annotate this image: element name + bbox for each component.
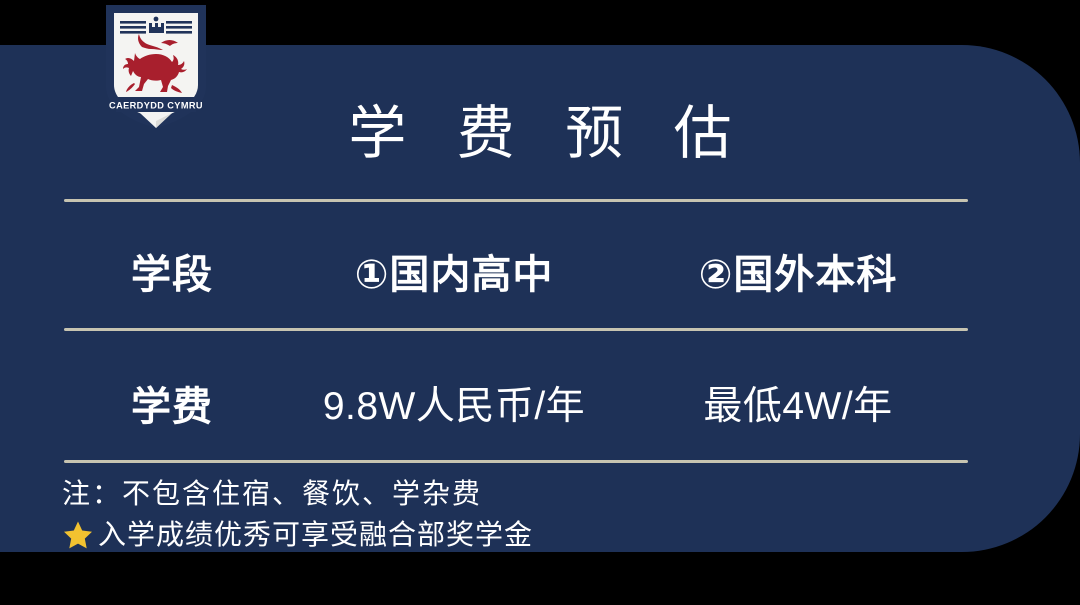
table-header-row: 学段 ①国内高中 ②国外本科 [64, 241, 968, 309]
note-scholarship-text: 入学成绩优秀可享受融合部奖学金 [98, 514, 533, 555]
column-header-overseas: ②国外本科 [699, 251, 898, 299]
table-header-cell-domestic: ①国内高中 [280, 241, 628, 309]
value-overseas-fee: 最低4W/年 [703, 383, 892, 431]
poster-canvas: 学 费 预 估 学段 ①国内高中 ②国外本科 学费 9.8W人民币/年 [0, 0, 1080, 605]
column-header-label: 学段 [131, 251, 213, 299]
note-exclusions-text: 注：不包含住宿、餐饮、学杂费 [62, 473, 482, 514]
column-header-domestic: ①国内高中 [355, 251, 554, 299]
table-cell-overseas-fee: 最低4W/年 [628, 373, 968, 441]
note-scholarship: 入学成绩优秀可享受融合部奖学金 [62, 514, 1022, 555]
table-header-cell-stage: 学段 [64, 241, 280, 309]
divider-bottom [64, 460, 968, 463]
note-exclusions: 注：不包含住宿、餐饮、学杂费 [62, 473, 1022, 514]
notes-block: 注：不包含住宿、餐饮、学杂费 入学成绩优秀可享受融合部奖学金 [62, 473, 1022, 555]
row-label-tuition: 学费 [131, 383, 213, 431]
table-header-cell-overseas: ②国外本科 [628, 241, 968, 309]
divider-top [64, 199, 968, 202]
divider-middle [64, 328, 968, 331]
value-domestic-fee: 9.8W人民币/年 [323, 383, 585, 431]
table-row: 学费 9.8W人民币/年 最低4W/年 [64, 373, 968, 441]
table-cell-domestic-fee: 9.8W人民币/年 [280, 373, 628, 441]
school-crest-logo: CAERDYDD CYMRU [104, 3, 208, 130]
star-icon [62, 519, 94, 551]
table-cell-row-label: 学费 [64, 373, 280, 441]
svg-text:CAERDYDD CYMRU: CAERDYDD CYMRU [109, 101, 203, 111]
